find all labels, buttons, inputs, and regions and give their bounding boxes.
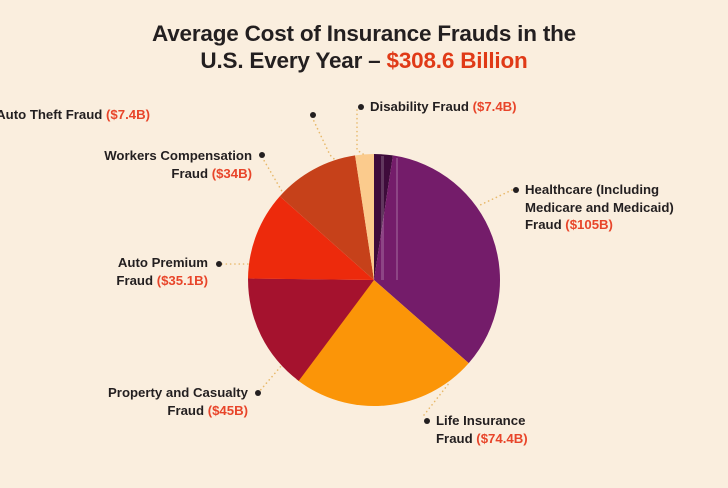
label-auto-theft-text: Auto Theft Fraud (0, 107, 106, 122)
label-workers-comp-line-1: Workers Compensation (104, 147, 252, 165)
label-life-line-2: Fraud ($74.4B) (436, 430, 528, 448)
dot-healthcare (513, 187, 519, 193)
label-life-text: Fraud (436, 431, 476, 446)
label-healthcare-line-3: Fraud ($105B) (525, 216, 674, 234)
label-property-text: Fraud (167, 403, 207, 418)
title-total-amount: $308.6 Billion (387, 48, 528, 73)
label-auto-premium-text: Fraud (116, 273, 156, 288)
infographic-canvas: Average Cost of Insurance Frauds in the … (0, 0, 728, 488)
label-workers-comp-value: ($34B) (212, 166, 252, 181)
label-healthcare-text: Fraud (525, 217, 565, 232)
label-auto-premium-line-1: Auto Premium (116, 254, 208, 272)
label-life-value: ($74.4B) (476, 431, 527, 446)
label-healthcare-fraud: Healthcare (Including Medicare and Medic… (525, 181, 674, 234)
label-workers-compensation-fraud: Workers Compensation Fraud ($34B) (104, 147, 252, 182)
page-title: Average Cost of Insurance Frauds in the … (0, 20, 728, 75)
label-workers-comp-line-2: Fraud ($34B) (104, 165, 252, 183)
label-auto-premium-fraud: Auto Premium Fraud ($35.1B) (116, 254, 208, 289)
leader-disability (357, 110, 372, 160)
dot-workers-compensation (259, 152, 265, 158)
label-auto-theft-fraud: Auto Theft Fraud ($7.4B) (0, 106, 150, 124)
title-line-1: Average Cost of Insurance Frauds in the (0, 20, 728, 47)
dot-auto-theft (310, 112, 316, 118)
label-auto-theft-line-1: Auto Theft Fraud ($7.4B) (0, 106, 150, 124)
label-healthcare-line-2: Medicare and Medicaid) (525, 199, 674, 217)
dot-life-insurance (424, 418, 430, 424)
label-auto-premium-value: ($35.1B) (157, 273, 208, 288)
label-auto-premium-line-2: Fraud ($35.1B) (116, 272, 208, 290)
label-disability-text: Disability Fraud (370, 99, 473, 114)
label-life-line-1: Life Insurance (436, 412, 528, 430)
pie-chart (248, 154, 500, 406)
title-line-2: U.S. Every Year – $308.6 Billion (0, 47, 728, 74)
label-life-insurance-fraud: Life Insurance Fraud ($74.4B) (436, 412, 528, 447)
label-workers-comp-text: Fraud (171, 166, 211, 181)
label-auto-theft-value: ($7.4B) (106, 107, 150, 122)
label-healthcare-value: ($105B) (565, 217, 613, 232)
label-property-line-2: Fraud ($45B) (108, 402, 248, 420)
dot-property-casualty (255, 390, 261, 396)
title-line-2-text: U.S. Every Year – (200, 48, 386, 73)
pie-svg (248, 154, 500, 406)
label-property-line-1: Property and Casualty (108, 384, 248, 402)
label-property-casualty-fraud: Property and Casualty Fraud ($45B) (108, 384, 248, 419)
dot-auto-premium (216, 261, 222, 267)
label-disability-line-1: Disability Fraud ($7.4B) (370, 98, 517, 116)
label-property-value: ($45B) (208, 403, 248, 418)
label-disability-value: ($7.4B) (473, 99, 517, 114)
pie-slices (248, 154, 500, 406)
label-healthcare-line-1: Healthcare (Including (525, 181, 674, 199)
label-disability-fraud: Disability Fraud ($7.4B) (370, 98, 517, 116)
dot-disability (358, 104, 364, 110)
